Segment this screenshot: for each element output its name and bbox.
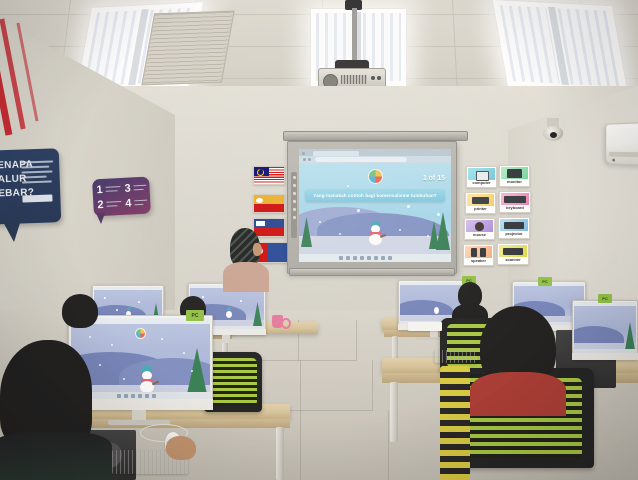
hardware-card-monitor-label: monitor [500,178,529,186]
wall-sign-left-chip [22,194,52,202]
browser-url-field[interactable] [315,157,407,162]
taskbar[interactable] [299,254,451,262]
wall-sign-right-bubble: 1 2 3 4 [92,177,151,217]
wall-sign-right-tail [96,213,105,224]
person-student-front-right [470,306,566,416]
hardware-card-scanner-label: scanner [498,256,528,264]
projector-pole [352,8,357,62]
desk-leg-fl-1 [276,427,284,480]
ceiling-light-right [492,0,629,93]
teacher-shoulders [223,262,269,292]
wall-sign-num-2: 2 [97,200,104,211]
desk-leg-fr-1 [390,382,398,442]
aircon-louver [609,152,638,158]
paper-on-desk [408,322,442,331]
quiz-snowman [367,221,385,247]
mug-teacher-handle [281,318,291,329]
cctv-lens [550,132,557,138]
keyboard-front-right[interactable] [434,350,478,363]
teacher-face [253,243,262,256]
quiz-logo-icon [368,169,383,184]
aircon-indicator [612,159,615,162]
monitor-front-right-screen[interactable] [574,302,636,353]
monitor-front-right[interactable] [572,300,638,360]
hardware-card-printer-label: printer [466,205,495,213]
quiz-question-banner: Yang manakah contoh bagi komensalisme tu… [305,189,445,202]
chair-striped-aisle[interactable] [440,366,470,480]
hardware-card-mouse-label: mouse [465,231,494,239]
wall-sign-num-3: 3 [124,184,131,195]
flag-malaysia [253,166,285,185]
projector-knob-a [371,76,375,80]
wall-sign-left-tail [2,220,21,242]
whiteboard-top-rail [283,131,468,141]
whiteboard-pen-tray [289,268,455,276]
student-front-right-shoulders [470,372,566,416]
monitor-front-left-snowman [137,366,157,394]
wall-sign-left-bubble: ENAPA ALUR EBAR? [0,148,61,226]
monitor-front-right-sticker: PC [598,294,612,303]
browser-tab-bar[interactable] [299,149,451,156]
student-front-left-hand [166,436,196,460]
air-conditioner [605,122,638,166]
hardware-card-projector: projector [498,217,530,239]
classroom-photo: ENAPA ALUR EBAR? 1 2 3 4 [0,0,638,480]
person-student-front-left [0,340,112,480]
hardware-card-monitor: monitor [499,165,530,187]
wall-sign-num-1: 1 [96,185,103,196]
hardware-card-computer-label: computer [467,179,496,187]
hardware-card-printer: printer [465,192,496,214]
person-teacher [222,228,270,290]
ceiling-air-vent [141,11,234,86]
student-back-left-head [62,294,98,328]
whiteboard-side-buttons[interactable] [291,172,297,238]
hardware-card-computer: computer [466,166,497,188]
flag-selangor [253,194,285,213]
hardware-card-projector-label: projector [499,230,529,238]
browser-address-bar[interactable] [299,156,451,163]
monitor-back-right-b-sticker: PC [538,277,552,286]
hardware-card-keyboard: keyboard [499,191,531,213]
projected-screen[interactable]: 1 of 15 [299,149,451,262]
hardware-card-speaker: speaker [463,244,494,266]
projector-knob-b [377,76,381,80]
wall-sign-num-4: 4 [125,198,132,209]
monitor-front-left-quiz-logo [135,328,146,339]
monitor-mid-left-stand [222,335,230,343]
quiz-progress-counter: 1 of 15 [423,175,445,182]
student-front-left-shoulders [0,432,112,480]
person-student-back-left [60,294,106,338]
hardware-card-keyboard-label: keyboard [500,204,530,212]
hardware-card-mouse: mouse [464,218,495,240]
projector-vent [341,75,367,84]
wall-sign-left-line2: ALUR [0,173,27,186]
hardware-card-scanner: scanner [497,243,529,265]
monitor-front-left-sticker: PC [186,310,204,321]
quiz-canvas[interactable]: 1 of 15 [299,163,451,254]
interactive-whiteboard[interactable]: 1 of 15 [287,141,457,274]
hardware-card-speaker-label: speaker [464,257,493,265]
